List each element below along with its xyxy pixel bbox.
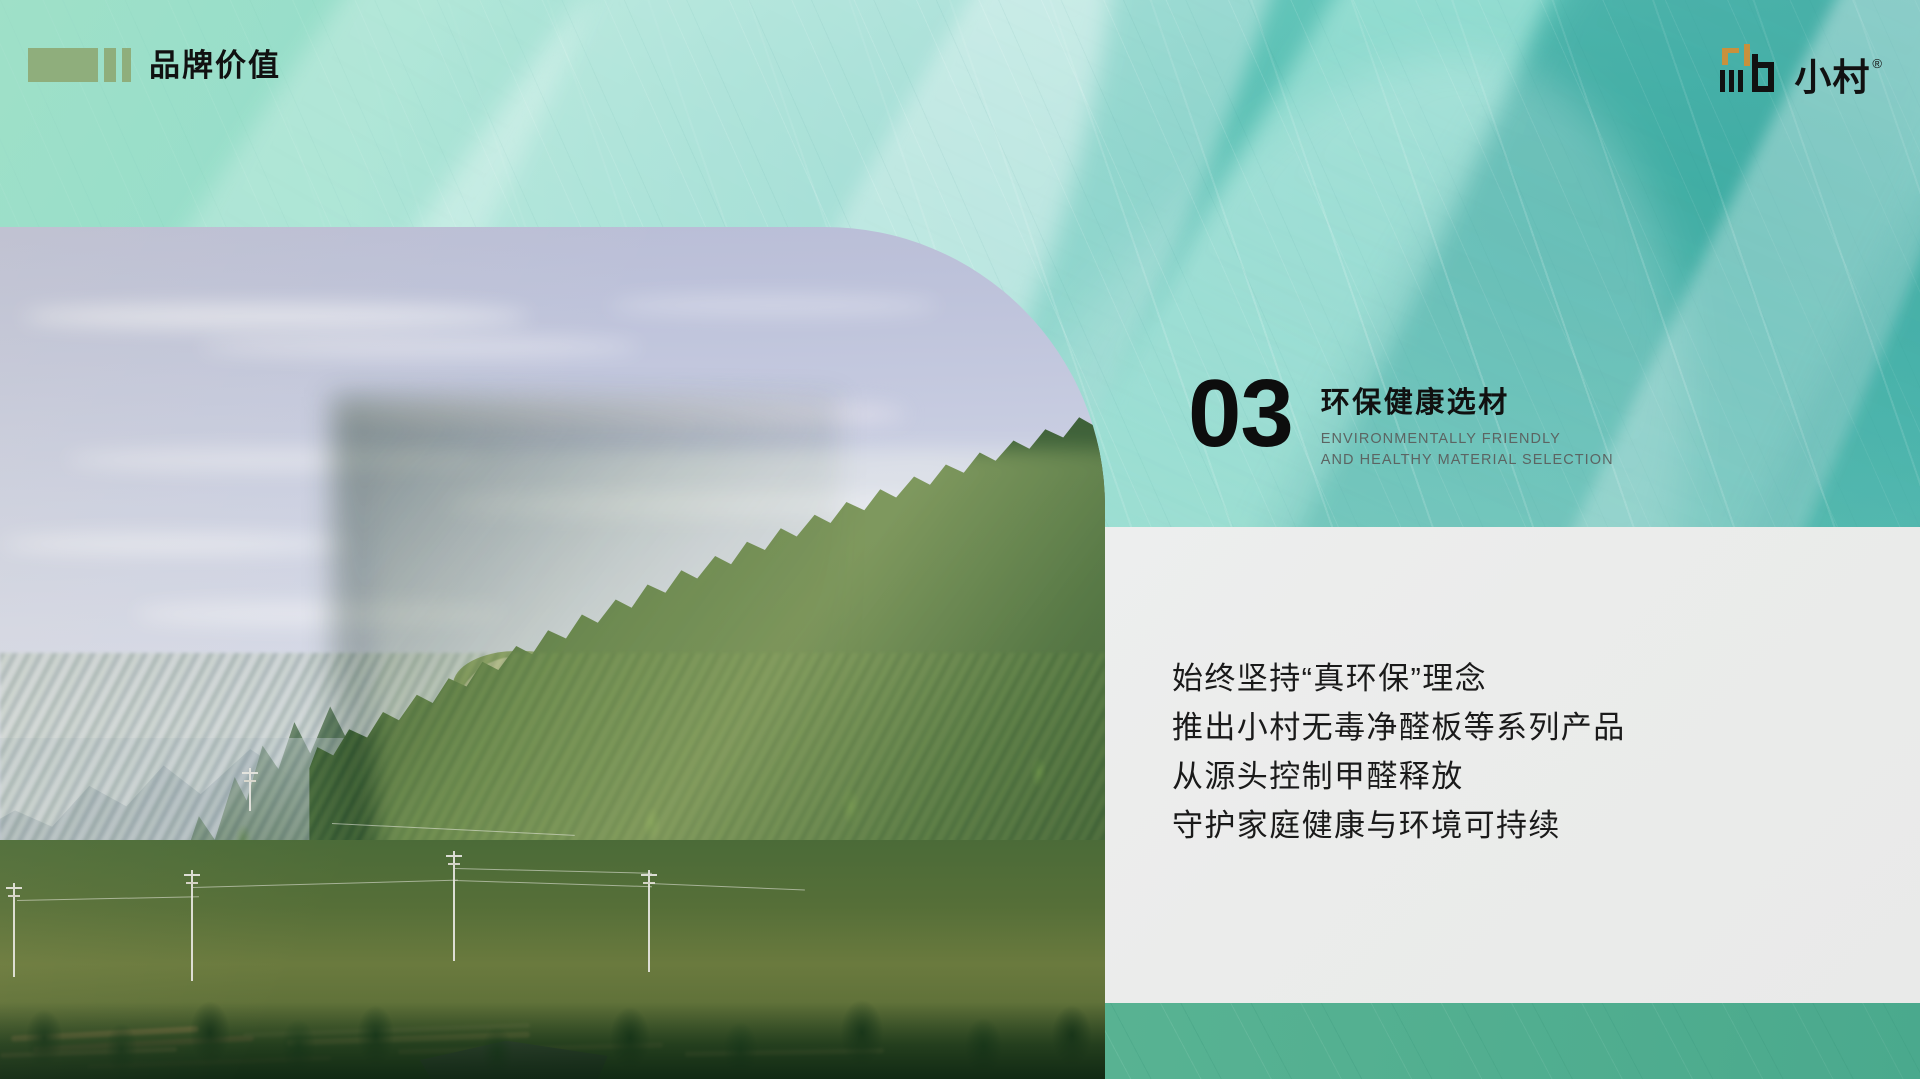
body-line-1: 始终坚持“真环保”理念 <box>1172 655 1892 704</box>
section-title-en: ENVIRONMENTALLY FRIENDLY AND HEALTHY MAT… <box>1321 429 1614 471</box>
body-line-3: 从源头控制甲醛释放 <box>1172 753 1892 802</box>
photo-utility-pole-5 <box>249 768 251 811</box>
section-number: 03 <box>1188 373 1293 456</box>
body-line-2: 推出小村无毒净醛板等系列产品 <box>1172 704 1892 753</box>
body-line-4: 守护家庭健康与环境可持续 <box>1172 802 1892 851</box>
title-decoration <box>28 48 131 82</box>
logo-wordmark-wrap: 小村 ® <box>1794 59 1882 96</box>
registered-trademark-icon: ® <box>1872 57 1882 70</box>
decoration-bar-narrow <box>122 48 131 82</box>
section-title-cn: 环保健康选材 <box>1321 387 1614 420</box>
page-title: 品牌价值 <box>149 50 281 81</box>
section-title-group: 环保健康选材 ENVIRONMENTALLY FRIENDLY AND HEAL… <box>1321 373 1614 471</box>
section-heading: 03 环保健康选材 ENVIRONMENTALLY FRIENDLY AND H… <box>1188 373 1614 471</box>
decoration-bar-medium <box>104 48 116 82</box>
logo-wordmark: 小村 <box>1794 59 1870 96</box>
landscape-photo <box>0 227 1105 1079</box>
slide-header: 品牌价值 <box>28 48 281 82</box>
body-copy: 始终坚持“真环保”理念 推出小村无毒净醛板等系列产品 从源头控制甲醛释放 守护家… <box>1172 655 1892 851</box>
decoration-bar-wide <box>28 48 98 82</box>
photo-foreground-shadow <box>0 1002 1105 1079</box>
xiaocun-logo-mark-icon <box>1718 40 1780 96</box>
brand-logo: 小村 ® <box>1718 40 1882 96</box>
slide-root: 品牌价值 小村 ® 03 环保健康选材 ENVIRONMENTALLY FRIE… <box>0 0 1920 1079</box>
